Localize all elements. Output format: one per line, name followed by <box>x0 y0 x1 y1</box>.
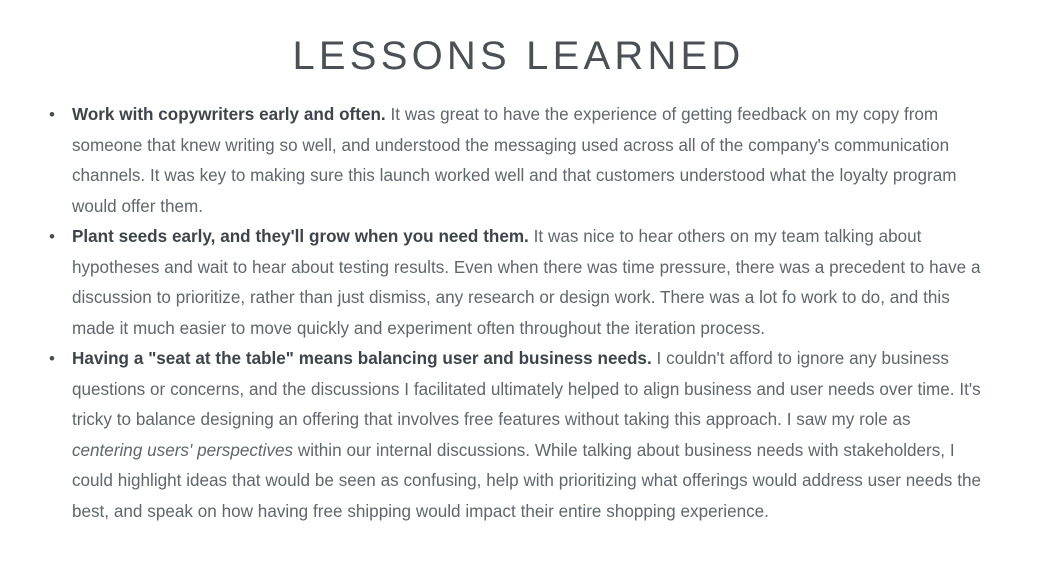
lesson-lead-in: Having a "seat at the table" means balan… <box>72 349 652 368</box>
lesson-lead-in: Plant seeds early, and they'll grow when… <box>72 227 529 246</box>
bullet-icon: • <box>49 100 61 131</box>
lesson-emphasis-text: centering users' perspectives <box>72 441 293 460</box>
lesson-lead-in: Work with copywriters early and often. <box>72 105 386 124</box>
bullet-icon: • <box>49 344 61 375</box>
lessons-list: • Work with copywriters early and often.… <box>46 100 982 527</box>
list-item: • Plant seeds early, and they'll grow wh… <box>46 222 982 344</box>
bullet-icon: • <box>49 222 61 253</box>
page-title: LESSONS LEARNED <box>0 0 1037 79</box>
list-item: • Work with copywriters early and often.… <box>46 100 982 222</box>
lessons-learned-slide: LESSONS LEARNED • Work with copywriters … <box>0 0 1037 568</box>
list-item: • Having a "seat at the table" means bal… <box>46 344 982 527</box>
